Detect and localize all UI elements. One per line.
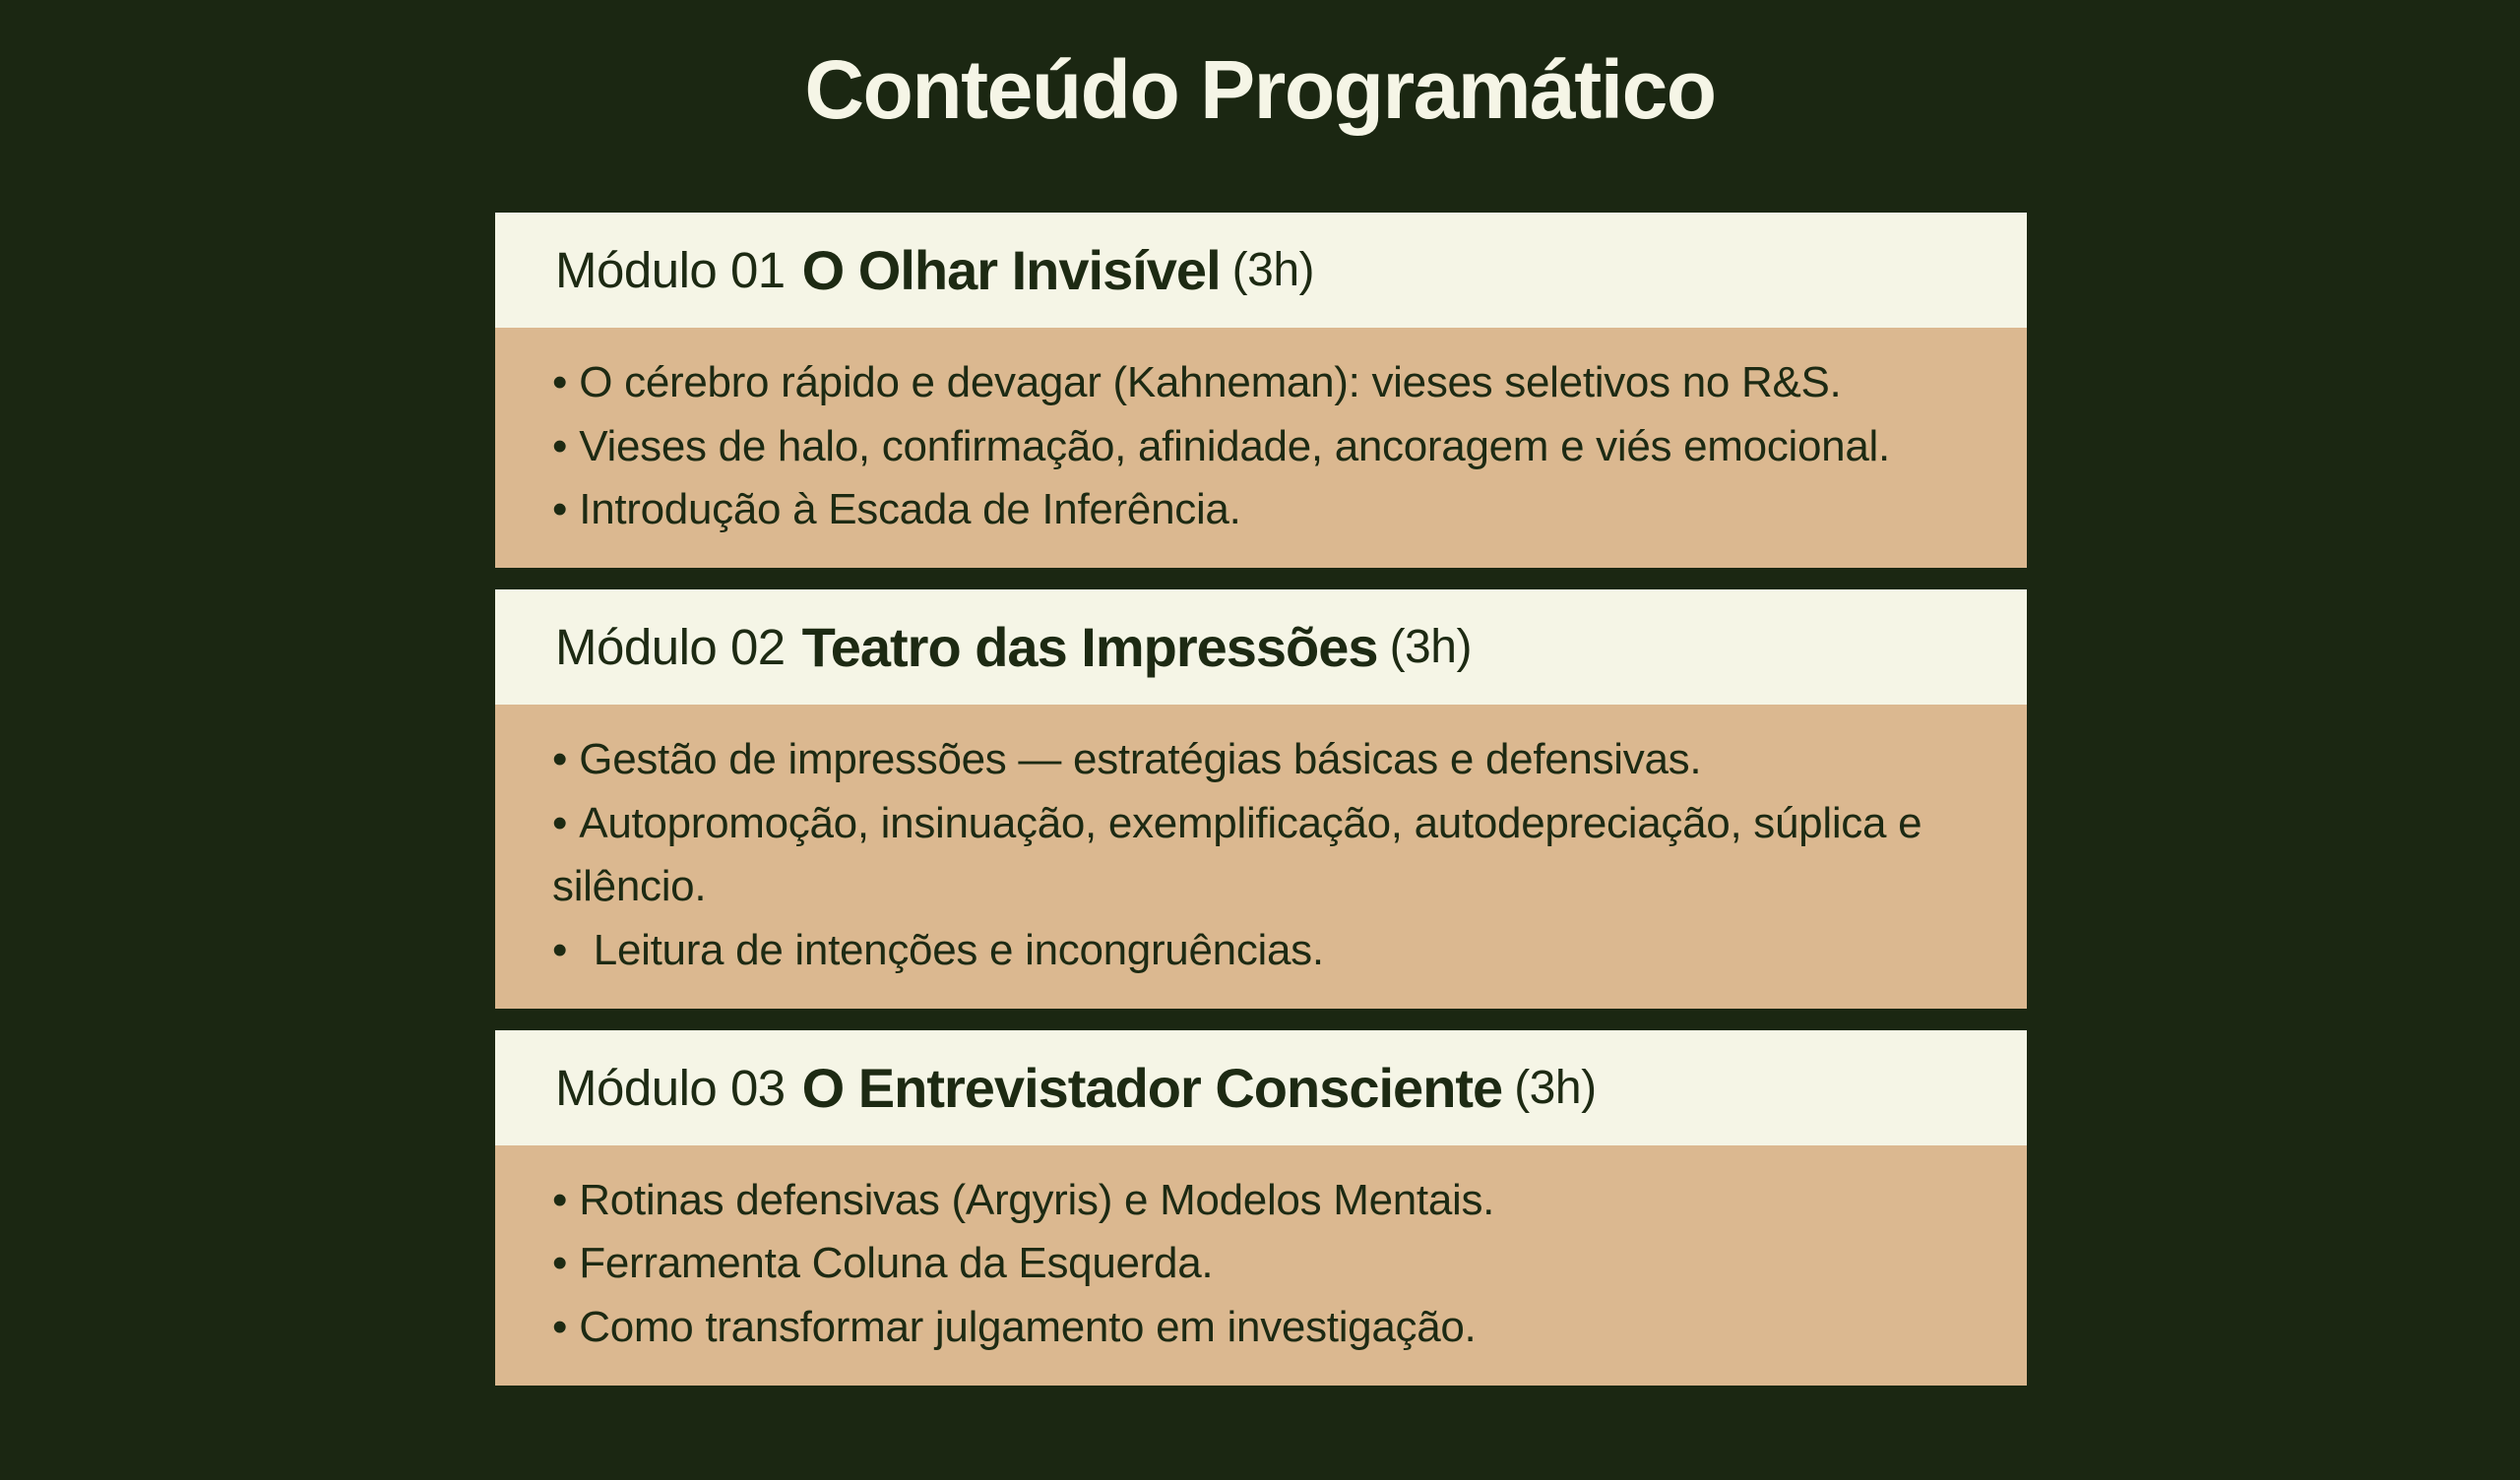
- module-list: Módulo 01 O Olhar Invisível (3h) •O cére…: [495, 213, 2027, 1386]
- bullet-dot-icon: •: [552, 1296, 579, 1360]
- bullet-item: •Como transformar julgamento em investig…: [552, 1296, 1968, 1360]
- bullet-dot-icon: •: [552, 1169, 579, 1233]
- module-number: Módulo 03: [555, 1059, 786, 1117]
- bullet-item: •Vieses de halo, confirmação, afinidade,…: [552, 415, 1968, 479]
- module-title: Teatro das Impressões: [802, 615, 1378, 679]
- bullet-text: Ferramenta Coluna da Esquerda.: [579, 1239, 1213, 1287]
- bullet-dot-icon: •: [552, 728, 579, 792]
- bullet-dot-icon: •: [552, 792, 579, 856]
- bullet-dot-icon: •: [552, 478, 579, 542]
- bullet-dot-icon: •: [552, 919, 594, 983]
- bullet-dot-icon: •: [552, 1232, 579, 1296]
- module-title: O Olhar Invisível: [802, 238, 1221, 302]
- bullet-item: •Rotinas defensivas (Argyris) e Modelos …: [552, 1169, 1968, 1233]
- bullet-text: Introdução à Escada de Inferência.: [579, 485, 1240, 533]
- module-card: Módulo 03 O Entrevistador Consciente (3h…: [495, 1030, 2027, 1386]
- bullet-text: Gestão de impressões — estratégias básic…: [579, 735, 1701, 783]
- module-header: Módulo 02 Teatro das Impressões (3h): [495, 589, 2027, 705]
- bullet-text: Autopromoção, insinuação, exemplificação…: [552, 799, 1921, 911]
- module-card: Módulo 01 O Olhar Invisível (3h) •O cére…: [495, 213, 2027, 568]
- bullet-item: •Gestão de impressões — estratégias bási…: [552, 728, 1968, 792]
- module-duration: (3h): [1232, 243, 1314, 297]
- bullet-dot-icon: •: [552, 415, 579, 479]
- module-header: Módulo 01 O Olhar Invisível (3h): [495, 213, 2027, 328]
- module-title: O Entrevistador Consciente: [802, 1056, 1503, 1120]
- bullet-text: Rotinas defensivas (Argyris) e Modelos M…: [579, 1176, 1494, 1224]
- bullet-text: Vieses de halo, confirmação, afinidade, …: [579, 422, 1890, 470]
- bullet-item: •Ferramenta Coluna da Esquerda.: [552, 1232, 1968, 1296]
- bullet-text: O cérebro rápido e devagar (Kahneman): v…: [579, 358, 1841, 406]
- bullet-item: •Leitura de intenções e incongruências.: [552, 919, 1968, 983]
- module-body: •O cérebro rápido e devagar (Kahneman): …: [495, 328, 2027, 568]
- module-card: Módulo 02 Teatro das Impressões (3h) •Ge…: [495, 589, 2027, 1009]
- module-duration: (3h): [1514, 1061, 1596, 1115]
- module-number: Módulo 01: [555, 241, 786, 299]
- module-duration: (3h): [1390, 620, 1472, 674]
- page-title: Conteúdo Programático: [0, 43, 2520, 136]
- bullet-item: •Introdução à Escada de Inferência.: [552, 478, 1968, 542]
- module-body: •Rotinas defensivas (Argyris) e Modelos …: [495, 1145, 2027, 1386]
- bullet-dot-icon: •: [552, 351, 579, 415]
- bullet-item: •Autopromoção, insinuação, exemplificaçã…: [552, 792, 1968, 919]
- module-body: •Gestão de impressões — estratégias bási…: [495, 705, 2027, 1009]
- bullet-item: •O cérebro rápido e devagar (Kahneman): …: [552, 351, 1968, 415]
- slide-canvas: Conteúdo Programático Módulo 01 O Olhar …: [0, 0, 2520, 1480]
- bullet-text: Como transformar julgamento em investiga…: [579, 1303, 1476, 1351]
- module-header: Módulo 03 O Entrevistador Consciente (3h…: [495, 1030, 2027, 1145]
- bullet-text: Leitura de intenções e incongruências.: [594, 926, 1324, 974]
- module-number: Módulo 02: [555, 618, 786, 676]
